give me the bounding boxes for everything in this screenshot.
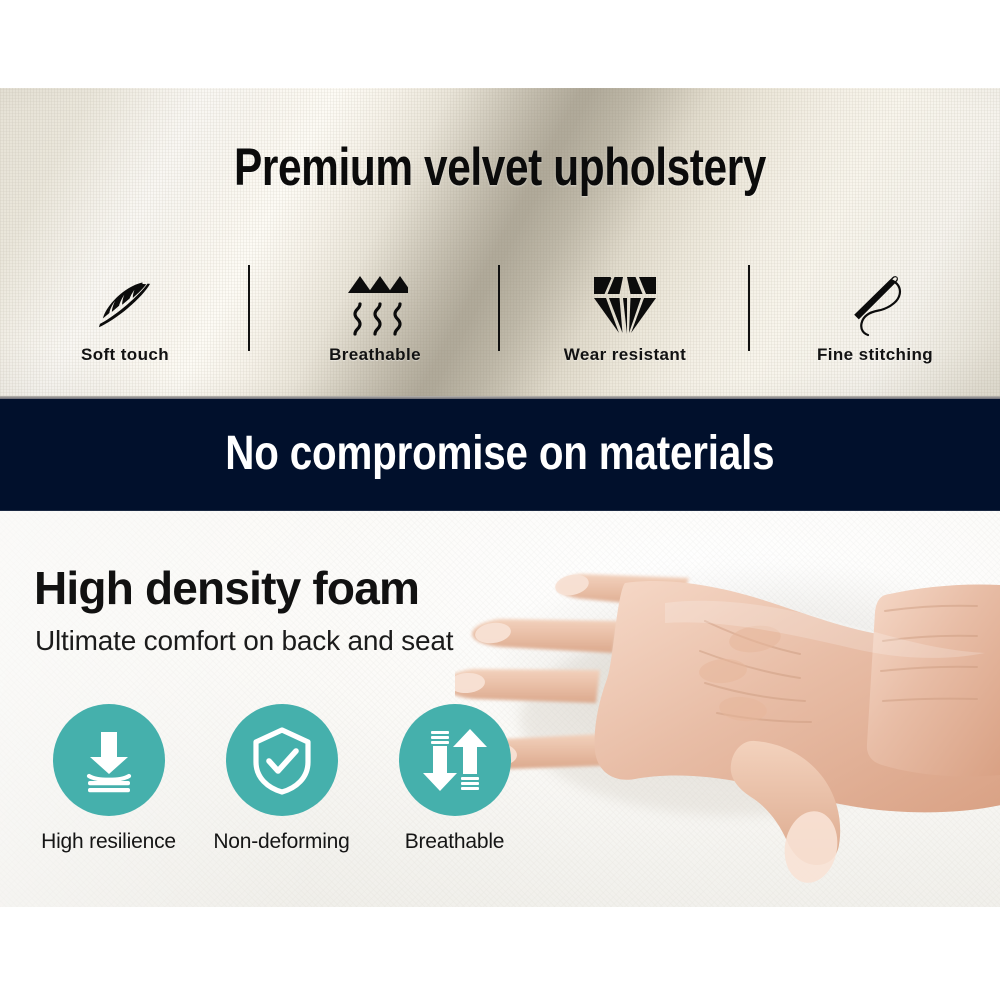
foam-feature-row: High resilience Non-deforming bbox=[22, 704, 542, 854]
navy-banner: No compromise on materials bbox=[0, 396, 1000, 511]
foam-feature-non-deforming: Non-deforming bbox=[195, 704, 368, 854]
shield-check-icon bbox=[226, 704, 338, 816]
foam-section-subtitle: Ultimate comfort on back and seat bbox=[35, 627, 453, 655]
foam-section-title: High density foam bbox=[34, 565, 419, 611]
diamond-icon bbox=[592, 273, 658, 339]
product-infographic: Premium velvet upholstery Soft touch bbox=[0, 0, 1000, 1000]
velvet-feature-soft-touch: Soft touch bbox=[0, 255, 250, 365]
velvet-feature-label: Fine stitching bbox=[817, 345, 933, 365]
velvet-feature-breathable: Breathable bbox=[250, 255, 500, 365]
down-arrow-compress-icon bbox=[53, 704, 165, 816]
velvet-feature-fine-stitching: Fine stitching bbox=[750, 255, 1000, 365]
navy-banner-top-edge bbox=[0, 396, 1000, 399]
velvet-feature-row: Soft touch Breathable bbox=[0, 255, 1000, 365]
navy-banner-text: No compromise on materials bbox=[225, 426, 774, 481]
breathable-arrows-icon bbox=[342, 273, 408, 339]
foam-feature-high-resilience: High resilience bbox=[22, 704, 195, 854]
velvet-section-title: Premium velvet upholstery bbox=[100, 141, 900, 194]
foam-feature-breathable: Breathable bbox=[368, 704, 541, 854]
needle-thread-icon bbox=[846, 273, 904, 339]
foam-feature-label: High resilience bbox=[41, 830, 176, 854]
up-down-arrows-icon bbox=[399, 704, 511, 816]
foam-feature-label: Breathable bbox=[405, 830, 505, 854]
foam-feature-label: Non-deforming bbox=[213, 830, 349, 854]
velvet-feature-wear-resistant: Wear resistant bbox=[500, 255, 750, 365]
velvet-feature-label: Breathable bbox=[329, 345, 421, 365]
velvet-feature-label: Wear resistant bbox=[564, 345, 686, 365]
velvet-feature-label: Soft touch bbox=[81, 345, 169, 365]
feather-icon bbox=[95, 273, 155, 339]
